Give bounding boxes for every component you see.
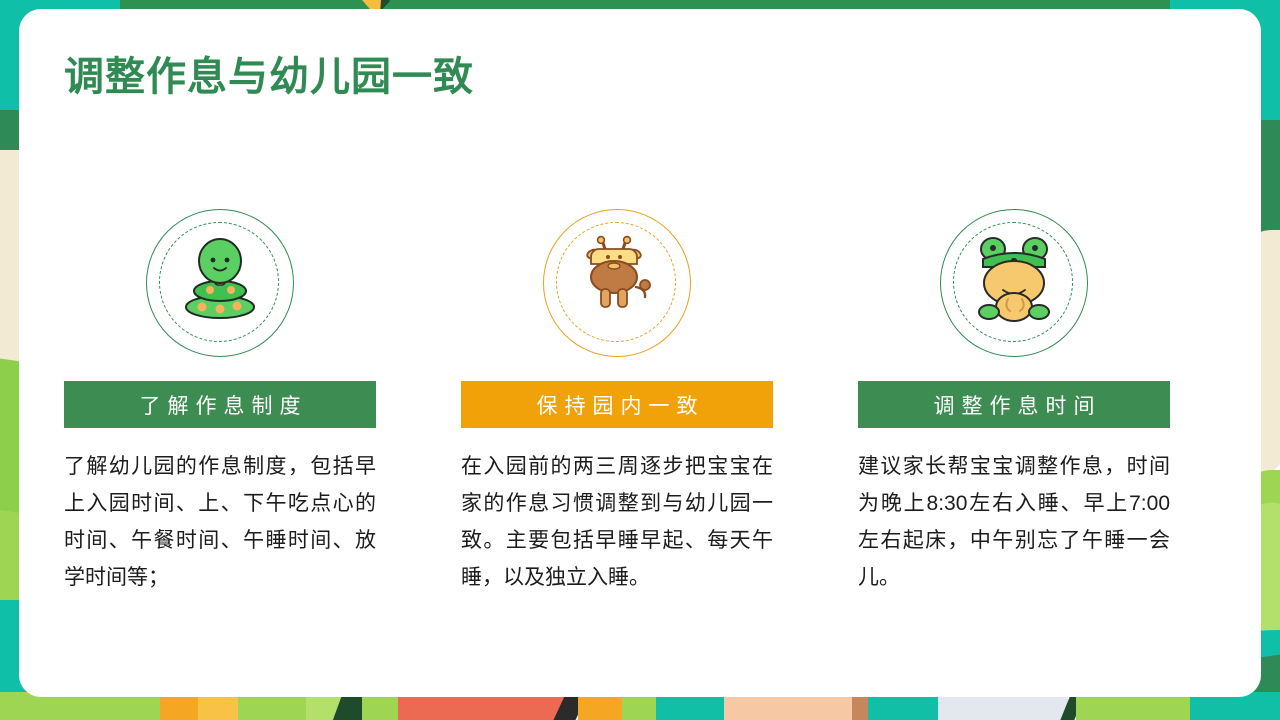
column-3: 调整作息时间 建议家长帮宝宝调整作息，时间为晚上8:30左右入睡、早上7:00左…: [858, 209, 1170, 596]
slide-root: 调整作息与幼儿园一致: [0, 0, 1280, 720]
columns-container: 了解作息制度 了解幼儿园的作息制度，包括早上入园时间、上、下午吃点心的时间、午餐…: [64, 209, 1224, 596]
body-text-2: 在入园前的两三周逐步把宝宝在家的作息习惯调整到与幼儿园一致。主要包括早睡早起、每…: [461, 448, 773, 596]
banner-1: 了解作息制度: [64, 381, 376, 428]
icon-wrap-1: [64, 209, 376, 357]
frog-icon: [967, 235, 1061, 332]
icon-wrap-2: [461, 209, 773, 357]
page-title: 调整作息与幼儿园一致: [64, 57, 474, 97]
column-2: 保持园内一致 在入园前的两三周逐步把宝宝在家的作息习惯调整到与幼儿园一致。主要包…: [461, 209, 773, 596]
body-text-3: 建议家长帮宝宝调整作息，时间为晚上8:30左右入睡、早上7:00左右起床，中午别…: [858, 448, 1170, 596]
banner-2: 保持园内一致: [461, 381, 773, 428]
icon-ring-2: [543, 209, 691, 357]
banner-label-1: 了解作息制度: [133, 390, 308, 420]
banner-3: 调整作息时间: [858, 381, 1170, 428]
column-1: 了解作息制度 了解幼儿园的作息制度，包括早上入园时间、上、下午吃点心的时间、午餐…: [64, 209, 376, 596]
icon-ring-1: [146, 209, 294, 357]
icon-wrap-3: [858, 209, 1170, 357]
giraffe-icon: [571, 235, 663, 332]
banner-label-3: 调整作息时间: [927, 390, 1102, 420]
content-card: 调整作息与幼儿园一致: [19, 9, 1261, 697]
snake-icon: [174, 235, 266, 332]
icon-ring-3: [940, 209, 1088, 357]
top-band: [0, 0, 1280, 9]
banner-label-2: 保持园内一致: [530, 390, 705, 420]
body-text-1: 了解幼儿园的作息制度，包括早上入园时间、上、下午吃点心的时间、午餐时间、午睡时间…: [64, 448, 376, 596]
